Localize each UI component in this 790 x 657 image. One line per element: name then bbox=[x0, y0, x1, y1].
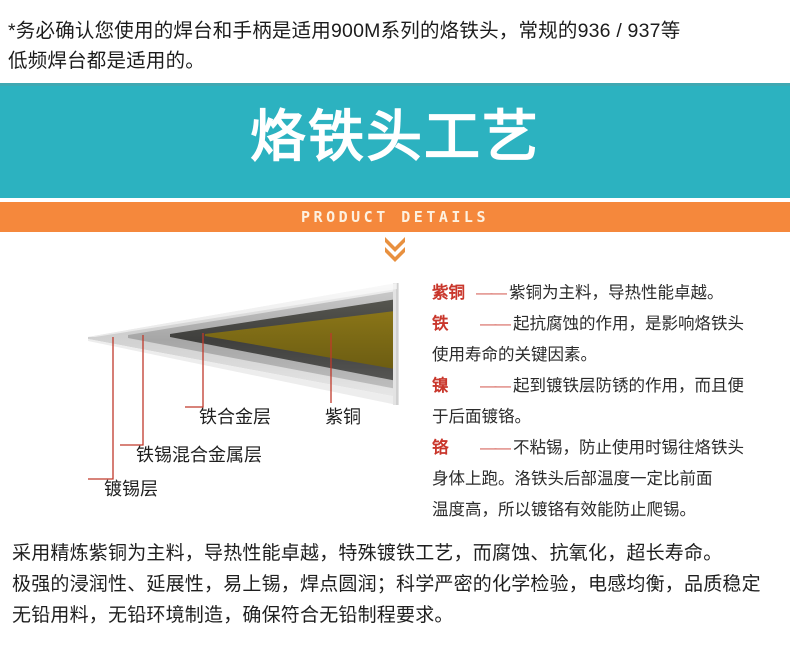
product-details-label: PRODUCT DETAILS bbox=[0, 202, 790, 232]
tip-cut-face bbox=[393, 283, 399, 405]
leader-tin-plating bbox=[88, 337, 113, 479]
material-key-nickel: 镍 bbox=[432, 371, 478, 402]
material-key-chrome: 铬 bbox=[432, 433, 478, 464]
material-item-iron: 铁——起抗腐蚀的作用，是影响烙铁头 bbox=[432, 309, 784, 340]
iron-tin-alloy-label: 铁锡混合金属层 bbox=[136, 441, 262, 467]
compatibility-note: *务必确认您使用的焊台和手柄是适用900M系列的烙铁头，常规的936 / 937… bbox=[8, 16, 780, 76]
section-banner: 烙铁头工艺 bbox=[0, 83, 790, 201]
page-title: 烙铁头工艺 bbox=[0, 104, 790, 170]
soldering-tip-cross-section: 镀锡层 铁锡混合金属层 铁合金层 紫铜 bbox=[0, 255, 430, 515]
material-text-chrome-3: 温度高，所以镀铬有效能防止爬锡。 bbox=[432, 501, 696, 519]
product-details-bar: PRODUCT DETAILS bbox=[0, 202, 790, 232]
material-text-chrome-3-row: 温度高，所以镀铬有效能防止爬锡。 bbox=[432, 495, 784, 526]
material-text-iron-2: 使用寿命的关键因素。 bbox=[432, 346, 597, 364]
material-text-iron-2-row: 使用寿命的关键因素。 bbox=[432, 340, 784, 371]
product-summary-copy: 采用精炼紫铜为主料，导热性能卓越，特殊镀铁工艺，而腐蚀、抗氧化，超长寿命。 极强… bbox=[12, 538, 780, 631]
material-text-nickel-2-row: 于后面镀铬。 bbox=[432, 402, 784, 433]
material-text-nickel-1: 起到镀铁层防锈的作用，而且便 bbox=[513, 377, 744, 395]
material-key-copper: 紫铜 bbox=[432, 278, 474, 309]
material-text-nickel-2: 于后面镀铬。 bbox=[432, 408, 531, 426]
material-text-copper-1: 紫铜为主料，导热性能卓越。 bbox=[509, 284, 724, 302]
material-key-iron: 铁 bbox=[432, 309, 478, 340]
material-item-copper: 紫铜——紫铜为主料，导热性能卓越。 bbox=[432, 278, 784, 309]
material-dash: —— bbox=[476, 278, 505, 309]
material-description-list: 紫铜——紫铜为主料，导热性能卓越。 铁——起抗腐蚀的作用，是影响烙铁头 使用寿命… bbox=[432, 278, 784, 526]
copper-core-label: 紫铜 bbox=[325, 403, 361, 429]
material-dash: —— bbox=[480, 371, 509, 402]
material-text-chrome-2-row: 身体上跑。洛铁头后部温度一定比前面 bbox=[432, 464, 784, 495]
material-item-chrome: 铬——不粘锡，防止使用时锡往烙铁头 bbox=[432, 433, 784, 464]
material-dash: —— bbox=[480, 433, 509, 464]
iron-alloy-label: 铁合金层 bbox=[199, 403, 271, 429]
material-text-chrome-1: 不粘锡，防止使用时锡往烙铁头 bbox=[513, 439, 744, 457]
material-text-chrome-2: 身体上跑。洛铁头后部温度一定比前面 bbox=[432, 470, 713, 488]
material-text-iron-1: 起抗腐蚀的作用，是影响烙铁头 bbox=[513, 315, 744, 333]
material-item-nickel: 镍——起到镀铁层防锈的作用，而且便 bbox=[432, 371, 784, 402]
tin-plating-label: 镀锡层 bbox=[104, 475, 158, 501]
material-dash: —— bbox=[480, 309, 509, 340]
